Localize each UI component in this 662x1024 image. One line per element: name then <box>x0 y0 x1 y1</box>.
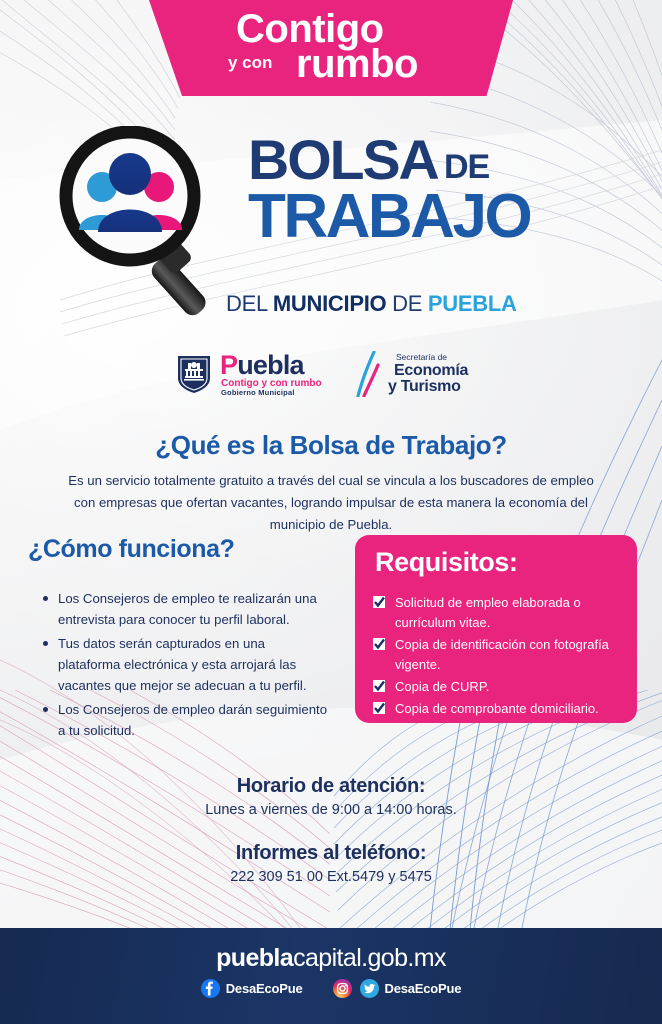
phone-heading: Informes al teléfono: <box>0 842 662 865</box>
contact-info-block: Horario de atención: Lunes a viernes de … <box>0 775 662 885</box>
checkbox-checked-icon <box>373 638 385 650</box>
spacer <box>0 818 662 842</box>
requirements-title: Requisitos: <box>375 547 518 578</box>
instagram-icon <box>333 979 352 998</box>
puebla-p-letter: P <box>220 350 237 380</box>
list-item: Tus datos serán capturados en una plataf… <box>40 633 330 696</box>
hero-subtitle: DEL MUNICIPIO DE PUEBLA <box>226 292 517 316</box>
facebook-link[interactable]: DesaEcoPue <box>201 979 303 998</box>
banner-line-ycon: y con <box>228 53 272 73</box>
subtitle-puebla: PUEBLA <box>428 291 517 316</box>
list-item: Copia de identificación con fotografía v… <box>373 635 625 675</box>
secretaria-line1: Secretaría de <box>396 352 447 362</box>
puebla-rest-letters: uebla <box>237 350 304 380</box>
url-bold-part: puebla <box>216 944 293 972</box>
checkbox-checked-icon <box>373 702 385 714</box>
website-url[interactable]: pueblacapital.gob.mx <box>0 944 662 973</box>
requirements-box: Requisitos: Solicitud de empleo elaborad… <box>355 535 637 723</box>
schedule-value: Lunes a viernes de 9:00 a 14:00 horas. <box>0 802 662 818</box>
poster-root: Contigo y con rumbo <box>0 0 662 1024</box>
secretaria-wordmark: Secretaría de Economía y Turismo <box>388 351 486 397</box>
banner-line-rumbo: rumbo <box>296 42 418 86</box>
puebla-wordmark: Puebla Contigo y con rumbo Gobierno Muni… <box>220 352 352 396</box>
subtitle-de: DE <box>386 291 428 316</box>
schedule-heading: Horario de atención: <box>0 775 662 798</box>
list-item: Los Consejeros de empleo te realizarán u… <box>40 588 330 630</box>
instagram-link[interactable] <box>333 979 352 998</box>
footer-bar: pueblacapital.gob.mx DesaEcoPue <box>0 928 662 1024</box>
how-it-works-title: ¿Cómo funciona? <box>28 535 234 564</box>
checkbox-checked-icon <box>373 596 385 608</box>
puebla-word: Puebla <box>220 352 304 379</box>
list-item: Solicitud de empleo elaborada o currícul… <box>373 593 625 633</box>
hero-section: BOLSA DE TRABAJO DEL MUNICIPIO DE PUEBLA <box>0 118 662 333</box>
requirement-text: Copia de comprobante domiciliario. <box>395 701 599 716</box>
puebla-coat-of-arms-icon <box>176 354 212 394</box>
secretaria-line3: y Turismo <box>388 378 461 396</box>
what-is-title: ¿Qué es la Bolsa de Trabajo? <box>0 430 662 461</box>
twitter-icon <box>360 979 379 998</box>
what-is-body: Es un servicio totalmente gratuito a tra… <box>56 470 606 536</box>
title-de: DE <box>444 150 489 184</box>
subtitle-del: DEL <box>226 291 273 316</box>
requirements-list: Solicitud de empleo elaborada o currícul… <box>373 593 625 721</box>
list-item: Los Consejeros de empleo darán seguimien… <box>40 699 330 741</box>
list-item: Copia de CURP. <box>373 677 625 697</box>
puebla-gobierno: Gobierno Municipal <box>221 388 295 397</box>
facebook-handle: DesaEcoPue <box>226 981 303 996</box>
facebook-icon <box>201 979 220 998</box>
social-links: DesaEcoPue <box>0 979 662 998</box>
swoosh-divider-icon <box>354 351 382 397</box>
hero-title-block: BOLSA DE TRABAJO DEL MUNICIPIO DE PUEBLA <box>248 136 648 194</box>
twitter-link[interactable]: DesaEcoPue <box>360 979 462 998</box>
title-bolsa: BOLSA <box>248 132 438 188</box>
requirement-text: Solicitud de empleo elaborada o currícul… <box>395 595 581 630</box>
list-item: Copia de comprobante domiciliario. <box>373 699 625 719</box>
checkbox-checked-icon <box>373 680 385 692</box>
how-it-works-list: Los Consejeros de empleo te realizarán u… <box>40 588 330 744</box>
url-rest-part: capital.gob.mx <box>293 944 446 972</box>
subtitle-municipio: MUNICIPIO <box>273 291 386 316</box>
requirement-text: Copia de CURP. <box>395 679 489 694</box>
title-trabajo: TRABAJO <box>248 186 530 248</box>
requirement-text: Copia de identificación con fotografía v… <box>395 637 609 672</box>
institutional-logos: Puebla Contigo y con rumbo Gobierno Muni… <box>0 348 662 400</box>
phone-value: 222 309 51 00 Ext.5479 y 5475 <box>0 869 662 885</box>
twitter-handle: DesaEcoPue <box>385 981 462 996</box>
magnifying-glass-people-icon <box>58 126 238 331</box>
banner-text-wrap: Contigo y con rumbo <box>0 0 662 96</box>
